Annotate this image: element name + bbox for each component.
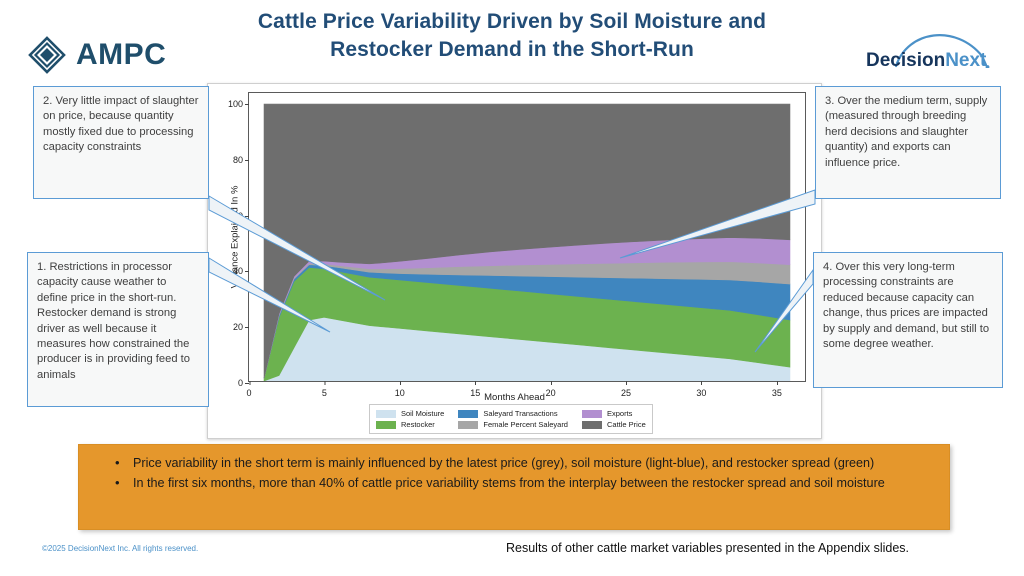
takeaways-box: Price variability in the short term is m… — [78, 444, 950, 530]
ampc-logo-text: AMPC — [76, 38, 166, 72]
page-title-line-1: Cattle Price Variability Driven by Soil … — [256, 8, 768, 36]
legend-label: Exports — [607, 409, 632, 418]
legend-swatch-icon — [458, 421, 478, 429]
takeaway-bullet-1: Price variability in the short term is m… — [95, 455, 933, 473]
slide-root: Cattle Price Variability Driven by Soil … — [0, 0, 1024, 576]
x-tick-10: 10 — [395, 381, 405, 398]
callout-4[interactable]: 4. Over this very long-term processing c… — [813, 252, 1003, 388]
x-axis-label: Months Ahead — [484, 392, 545, 403]
legend-label: Female Percent Saleyard — [483, 420, 568, 429]
x-tick-30: 30 — [696, 381, 706, 398]
legend-swatch-icon — [458, 410, 478, 418]
decisionnext-logo: DecisionNext — [866, 28, 1001, 76]
x-tick-15: 15 — [470, 381, 480, 398]
page-title: Cattle Price Variability Driven by Soil … — [256, 8, 768, 64]
takeaway-bullet-2: In the first six months, more than 40% o… — [95, 475, 933, 493]
y-tick-40: 40 — [233, 266, 249, 276]
decisionnext-logo-text: DecisionNext — [866, 50, 986, 72]
legend-item-female-percent-saleyard[interactable]: Female Percent Saleyard — [458, 420, 568, 429]
legend-item-restocker[interactable]: Restocker — [376, 420, 444, 429]
legend-swatch-icon — [582, 421, 602, 429]
legend-label: Restocker — [401, 420, 435, 429]
x-tick-0: 0 — [246, 381, 251, 398]
y-tick-80: 80 — [233, 155, 249, 165]
legend-swatch-icon — [582, 410, 602, 418]
legend-label: Saleyard Transactions — [483, 409, 557, 418]
callout-1-text: 1. Restrictions in processor capacity ca… — [37, 261, 190, 381]
chart-panel: Variance Explained In % 020406080100 051… — [207, 83, 822, 439]
legend-item-saleyard-transactions[interactable]: Saleyard Transactions — [458, 409, 568, 418]
y-tick-100: 100 — [228, 99, 249, 109]
stacked-area-plot — [249, 93, 805, 381]
legend-item-cattle-price[interactable]: Cattle Price — [582, 420, 646, 429]
x-tick-25: 25 — [621, 381, 631, 398]
legend-label: Cattle Price — [607, 420, 646, 429]
callout-4-text: 4. Over this very long-term processing c… — [823, 261, 989, 350]
callout-2-text: 2. Very little impact of slaughter on pr… — [43, 95, 198, 153]
legend-swatch-icon — [376, 421, 396, 429]
ampc-logo: AMPC — [28, 36, 166, 74]
callout-2[interactable]: 2. Very little impact of slaughter on pr… — [33, 86, 209, 199]
x-tick-35: 35 — [772, 381, 782, 398]
takeaways-list: Price variability in the short term is m… — [95, 455, 933, 492]
callout-1[interactable]: 1. Restrictions in processor capacity ca… — [27, 252, 209, 407]
plot-frame: Variance Explained In % 020406080100 051… — [248, 92, 806, 382]
legend-item-soil-moisture[interactable]: Soil Moisture — [376, 409, 444, 418]
appendix-note: Results of other cattle market variables… — [506, 541, 909, 555]
chart-legend: Soil MoistureSaleyard TransactionsExport… — [369, 404, 653, 434]
x-tick-5: 5 — [322, 381, 327, 398]
x-tick-20: 20 — [546, 381, 556, 398]
ampc-diamond-icon — [28, 36, 66, 74]
legend-swatch-icon — [376, 410, 396, 418]
y-tick-60: 60 — [233, 211, 249, 221]
callout-3-text: 3. Over the medium term, supply (measure… — [825, 95, 987, 169]
y-tick-20: 20 — [233, 322, 249, 332]
decisionnext-word-next: Next — [945, 50, 986, 71]
legend-label: Soil Moisture — [401, 409, 444, 418]
copyright-text: ©2025 DecisionNext Inc. All rights reser… — [42, 544, 198, 553]
page-title-line-2: Restocker Demand in the Short-Run — [256, 36, 768, 64]
callout-3[interactable]: 3. Over the medium term, supply (measure… — [815, 86, 1001, 199]
decisionnext-word-decision: Decision — [866, 50, 945, 71]
legend-item-exports[interactable]: Exports — [582, 409, 646, 418]
